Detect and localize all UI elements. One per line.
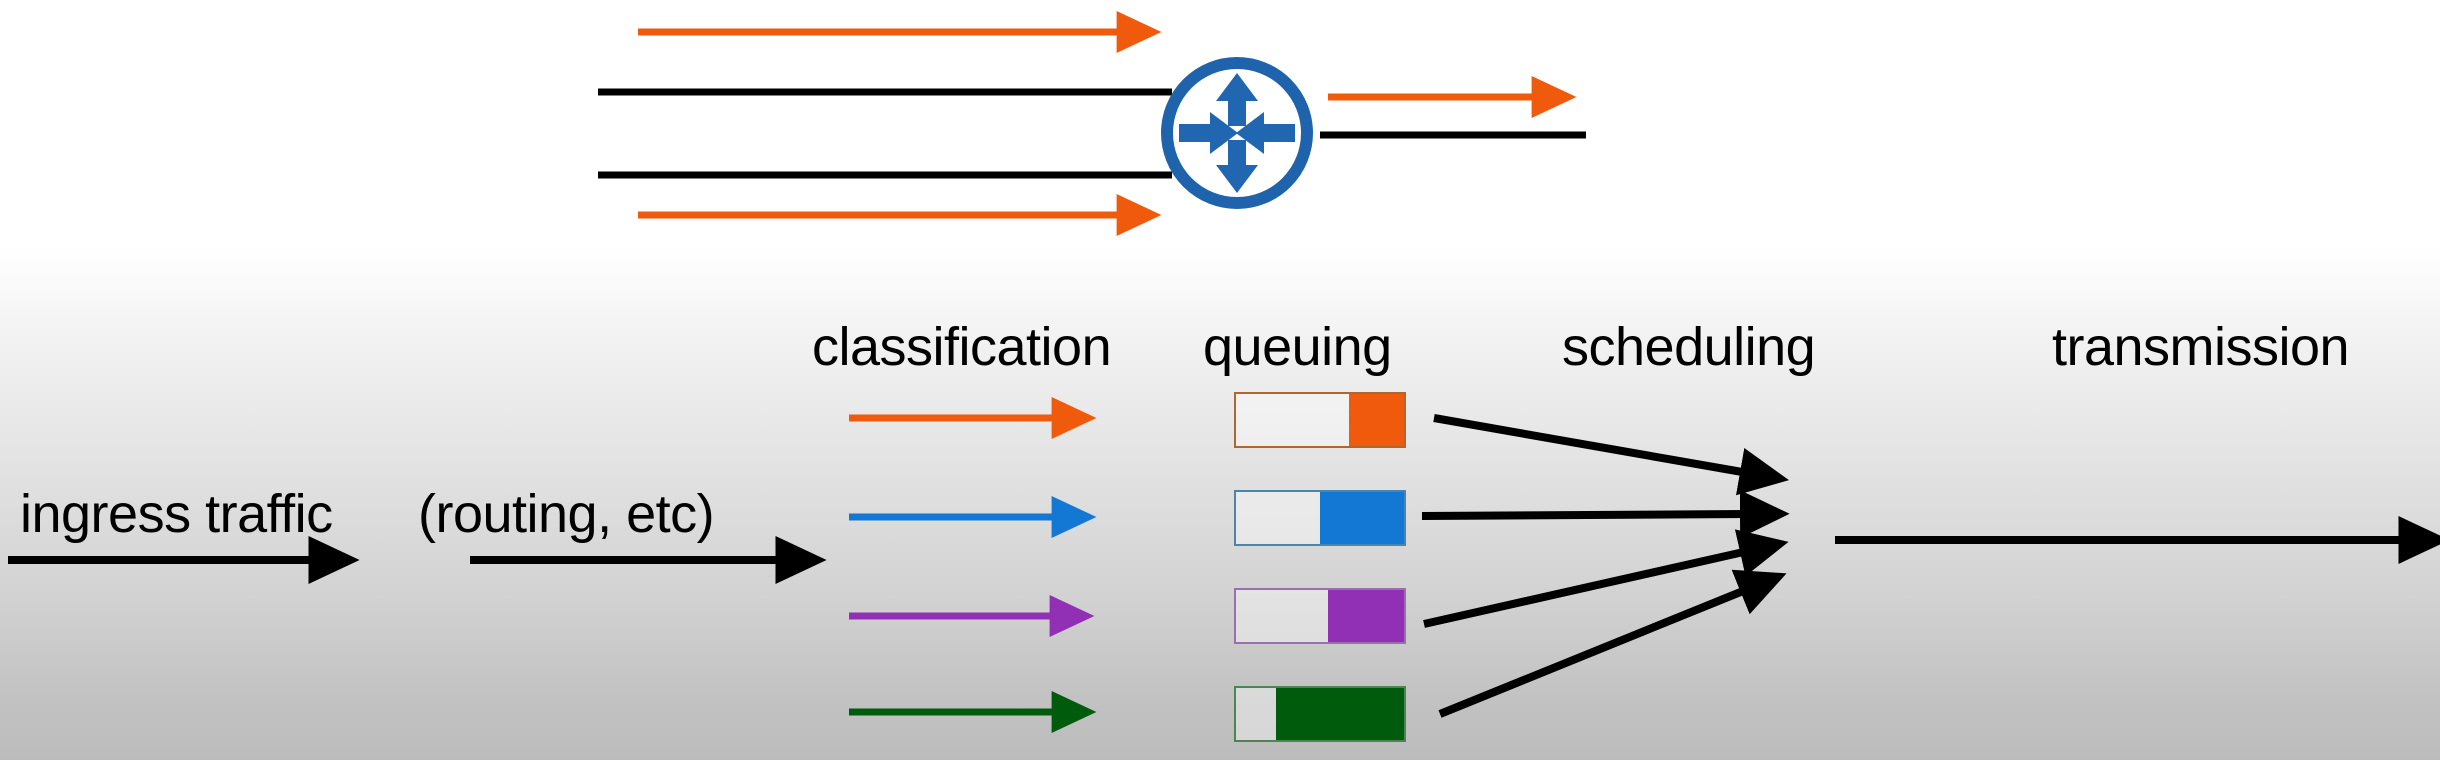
queue-purple-empty	[1236, 590, 1328, 642]
stage-label-queuing: queuing	[1203, 320, 1392, 374]
qos-pipeline-diagram: classification queuing scheduling transm…	[0, 0, 2440, 760]
stage-label-transmission: transmission	[2052, 320, 2349, 374]
sched-arrow-2	[1422, 514, 1748, 516]
router-link-group	[598, 32, 1586, 215]
scheduling-arrow-group	[1422, 418, 1748, 714]
queue-orange-empty	[1236, 394, 1349, 446]
input-label-routing: (routing, etc)	[418, 487, 714, 541]
classification-flow-group	[849, 418, 1060, 712]
sched-arrow-1	[1434, 418, 1748, 473]
stage-label-scheduling: scheduling	[1562, 320, 1815, 374]
queue-blue-fill	[1320, 492, 1404, 544]
queue-orange[interactable]	[1234, 392, 1406, 448]
sched-arrow-3	[1424, 551, 1748, 624]
queue-green-empty	[1236, 688, 1276, 740]
stage-label-classification: classification	[812, 320, 1111, 374]
queue-green-fill	[1276, 688, 1404, 740]
router-icon	[1167, 63, 1307, 203]
queue-blue[interactable]	[1234, 490, 1406, 546]
diagram-artwork	[0, 0, 2440, 760]
queue-purple[interactable]	[1234, 588, 1406, 644]
queue-green[interactable]	[1234, 686, 1406, 742]
input-label-ingress-traffic: ingress traffic	[20, 487, 333, 541]
queue-purple-fill	[1328, 590, 1404, 642]
queue-blue-empty	[1236, 492, 1320, 544]
queue-orange-fill	[1349, 394, 1404, 446]
